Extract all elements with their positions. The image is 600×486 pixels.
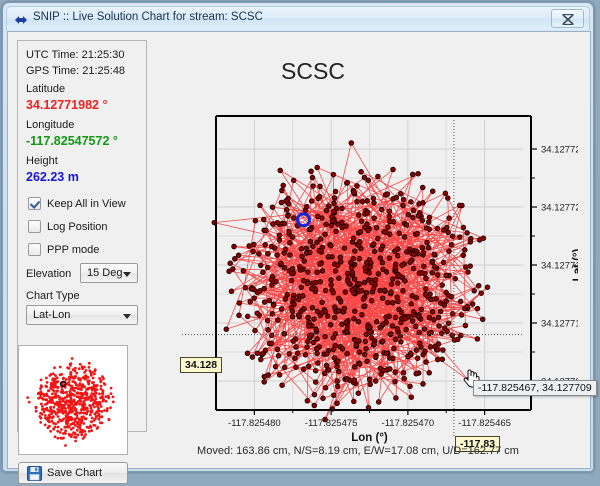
latitude-label: Latitude (26, 83, 65, 95)
status-text: Moved: 163.86 cm, N/S=8.19 cm, E/W=17.08… (158, 445, 558, 457)
longitude-label: Longitude (26, 119, 74, 131)
checkbox-ppp-mode[interactable]: PPP mode (28, 242, 99, 257)
checkbox-keep-all-in-view[interactable]: Keep All in View (28, 196, 126, 211)
height-value: 262.23 m (26, 170, 79, 184)
latitude-value: 34.12771982 ° (26, 98, 107, 112)
checkbox-log-position[interactable]: Log Position (28, 219, 108, 234)
svg-text:-117.825475: -117.825475 (305, 418, 358, 429)
checkbox-box[interactable] (28, 220, 41, 233)
svg-text:Lon (°): Lon (°) (351, 432, 388, 444)
client-area: UTC Time: 21:25:30 GPS Time: 21:25:48 La… (7, 31, 591, 469)
checkbox-box[interactable] (28, 243, 41, 256)
elevation-label: Elevation (26, 268, 71, 280)
close-button[interactable] (551, 9, 584, 28)
svg-text:34.127725: 34.127725 (541, 145, 578, 156)
elevation-select[interactable]: 15 Deg (80, 263, 138, 283)
title-bar: SNIP :: Live Solution Chart for stream: … (6, 6, 590, 30)
chart-type-value: Lat-Lon (33, 309, 70, 321)
checkbox-label: Log Position (47, 221, 108, 233)
chart-type-label: Chart Type (26, 290, 80, 302)
svg-text:-117.825465: -117.825465 (458, 418, 511, 429)
y-axis-callout: 34.128 (180, 357, 222, 373)
svg-text:Lat (°): Lat (°) (572, 248, 578, 281)
elevation-value: 15 Deg (87, 267, 122, 279)
svg-text:34.127720: 34.127720 (541, 203, 578, 214)
svg-text:-117.825470: -117.825470 (382, 418, 435, 429)
checkbox-label: Keep All in View (47, 198, 126, 210)
chart-window: SNIP :: Live Solution Chart for stream: … (2, 2, 594, 472)
chart-thumbnail[interactable] (18, 345, 128, 455)
svg-text:-117.825480: -117.825480 (228, 418, 281, 429)
longitude-value: -117.82547572 ° (26, 134, 118, 148)
window-title: SNIP :: Live Solution Chart for stream: … (33, 11, 263, 23)
svg-text:34.127710: 34.127710 (541, 319, 578, 330)
checkbox-label: PPP mode (47, 244, 99, 256)
cursor-tooltip: -117.825467, 34.127709 (473, 380, 597, 396)
chevron-down-icon (123, 272, 131, 277)
save-chart-label: Save Chart (47, 467, 102, 479)
chart-title: SCSC (148, 58, 478, 85)
chevron-down-icon (123, 314, 131, 319)
close-icon (562, 14, 574, 25)
checkbox-box[interactable] (28, 197, 41, 210)
height-label: Height (26, 155, 58, 167)
utc-time-label: UTC Time: 21:25:30 (26, 49, 124, 61)
floppy-disk-icon (27, 466, 42, 486)
chart-type-select[interactable]: Lat-Lon (26, 305, 138, 325)
left-right-arrows-icon (14, 13, 28, 25)
save-chart-button[interactable]: Save Chart (18, 462, 128, 484)
gps-time-label: GPS Time: 21:25:48 (26, 65, 125, 77)
